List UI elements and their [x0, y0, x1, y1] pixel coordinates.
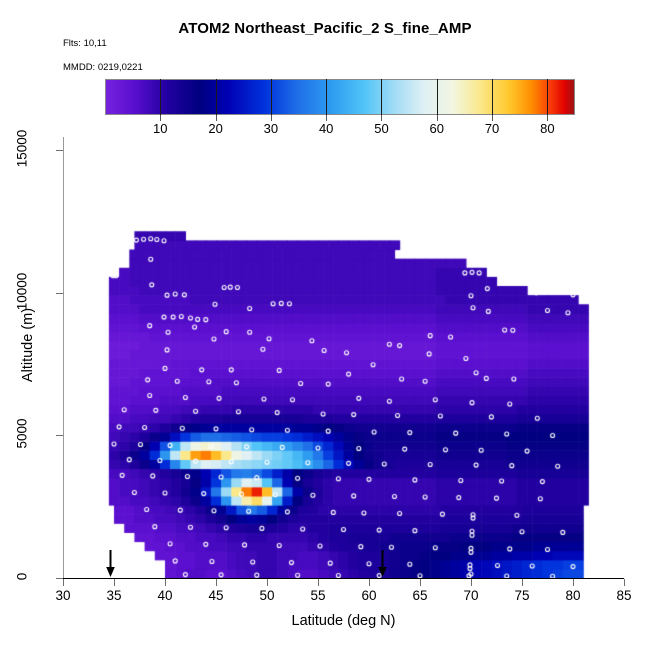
x-axis-line [63, 578, 624, 579]
figure-root: ATOM2 Northeast_Pacific_2 S_fine_AMP Flt… [0, 0, 650, 650]
x-axis-tick [420, 579, 421, 586]
y-axis-tick [56, 150, 63, 151]
flights-annotation: Flts: 10,11 [63, 38, 107, 49]
x-axis-tick [573, 579, 574, 586]
heatmap-plot [63, 79, 624, 578]
y-axis-tick [56, 435, 63, 436]
x-axis-tick [216, 579, 217, 586]
heatmap-canvas [63, 79, 624, 578]
x-axis-tick [267, 579, 268, 586]
y-axis-tick [56, 293, 63, 294]
x-axis-tick-label: 35 [92, 588, 136, 603]
x-axis-tick-label: 60 [347, 588, 391, 603]
x-axis-tick [522, 579, 523, 586]
x-axis-tick-label: 50 [245, 588, 289, 603]
y-axis-tick [56, 578, 63, 579]
x-axis-tick [624, 579, 625, 586]
latitude-arrow-icon [377, 550, 388, 578]
x-axis-tick-label: 75 [500, 588, 544, 603]
x-axis-tick [63, 579, 64, 586]
x-axis-tick-label: 30 [41, 588, 85, 603]
x-axis-label: Latitude (deg N) [63, 613, 624, 629]
latitude-arrow-icon [105, 550, 116, 578]
x-axis-tick [318, 579, 319, 586]
x-axis-tick-label: 85 [602, 588, 646, 603]
x-axis-tick-label: 70 [449, 588, 493, 603]
x-axis-tick-label: 80 [551, 588, 595, 603]
x-axis-tick-label: 45 [194, 588, 238, 603]
x-axis-tick [165, 579, 166, 586]
x-axis-tick [114, 579, 115, 586]
x-axis-tick-label: 40 [143, 588, 187, 603]
x-axis-tick [369, 579, 370, 586]
x-axis-tick [471, 579, 472, 586]
y-axis-label: Altitude (m) [20, 255, 36, 435]
x-axis-tick-label: 65 [398, 588, 442, 603]
y-axis-line [63, 137, 64, 579]
y-axis-tick-label: 15000 [15, 123, 30, 175]
x-axis-tick-label: 55 [296, 588, 340, 603]
mmdd-annotation: MMDD: 0219,0221 [63, 62, 143, 73]
page-title: ATOM2 Northeast_Pacific_2 S_fine_AMP [0, 20, 650, 37]
y-axis-tick-label: 0 [15, 551, 30, 603]
